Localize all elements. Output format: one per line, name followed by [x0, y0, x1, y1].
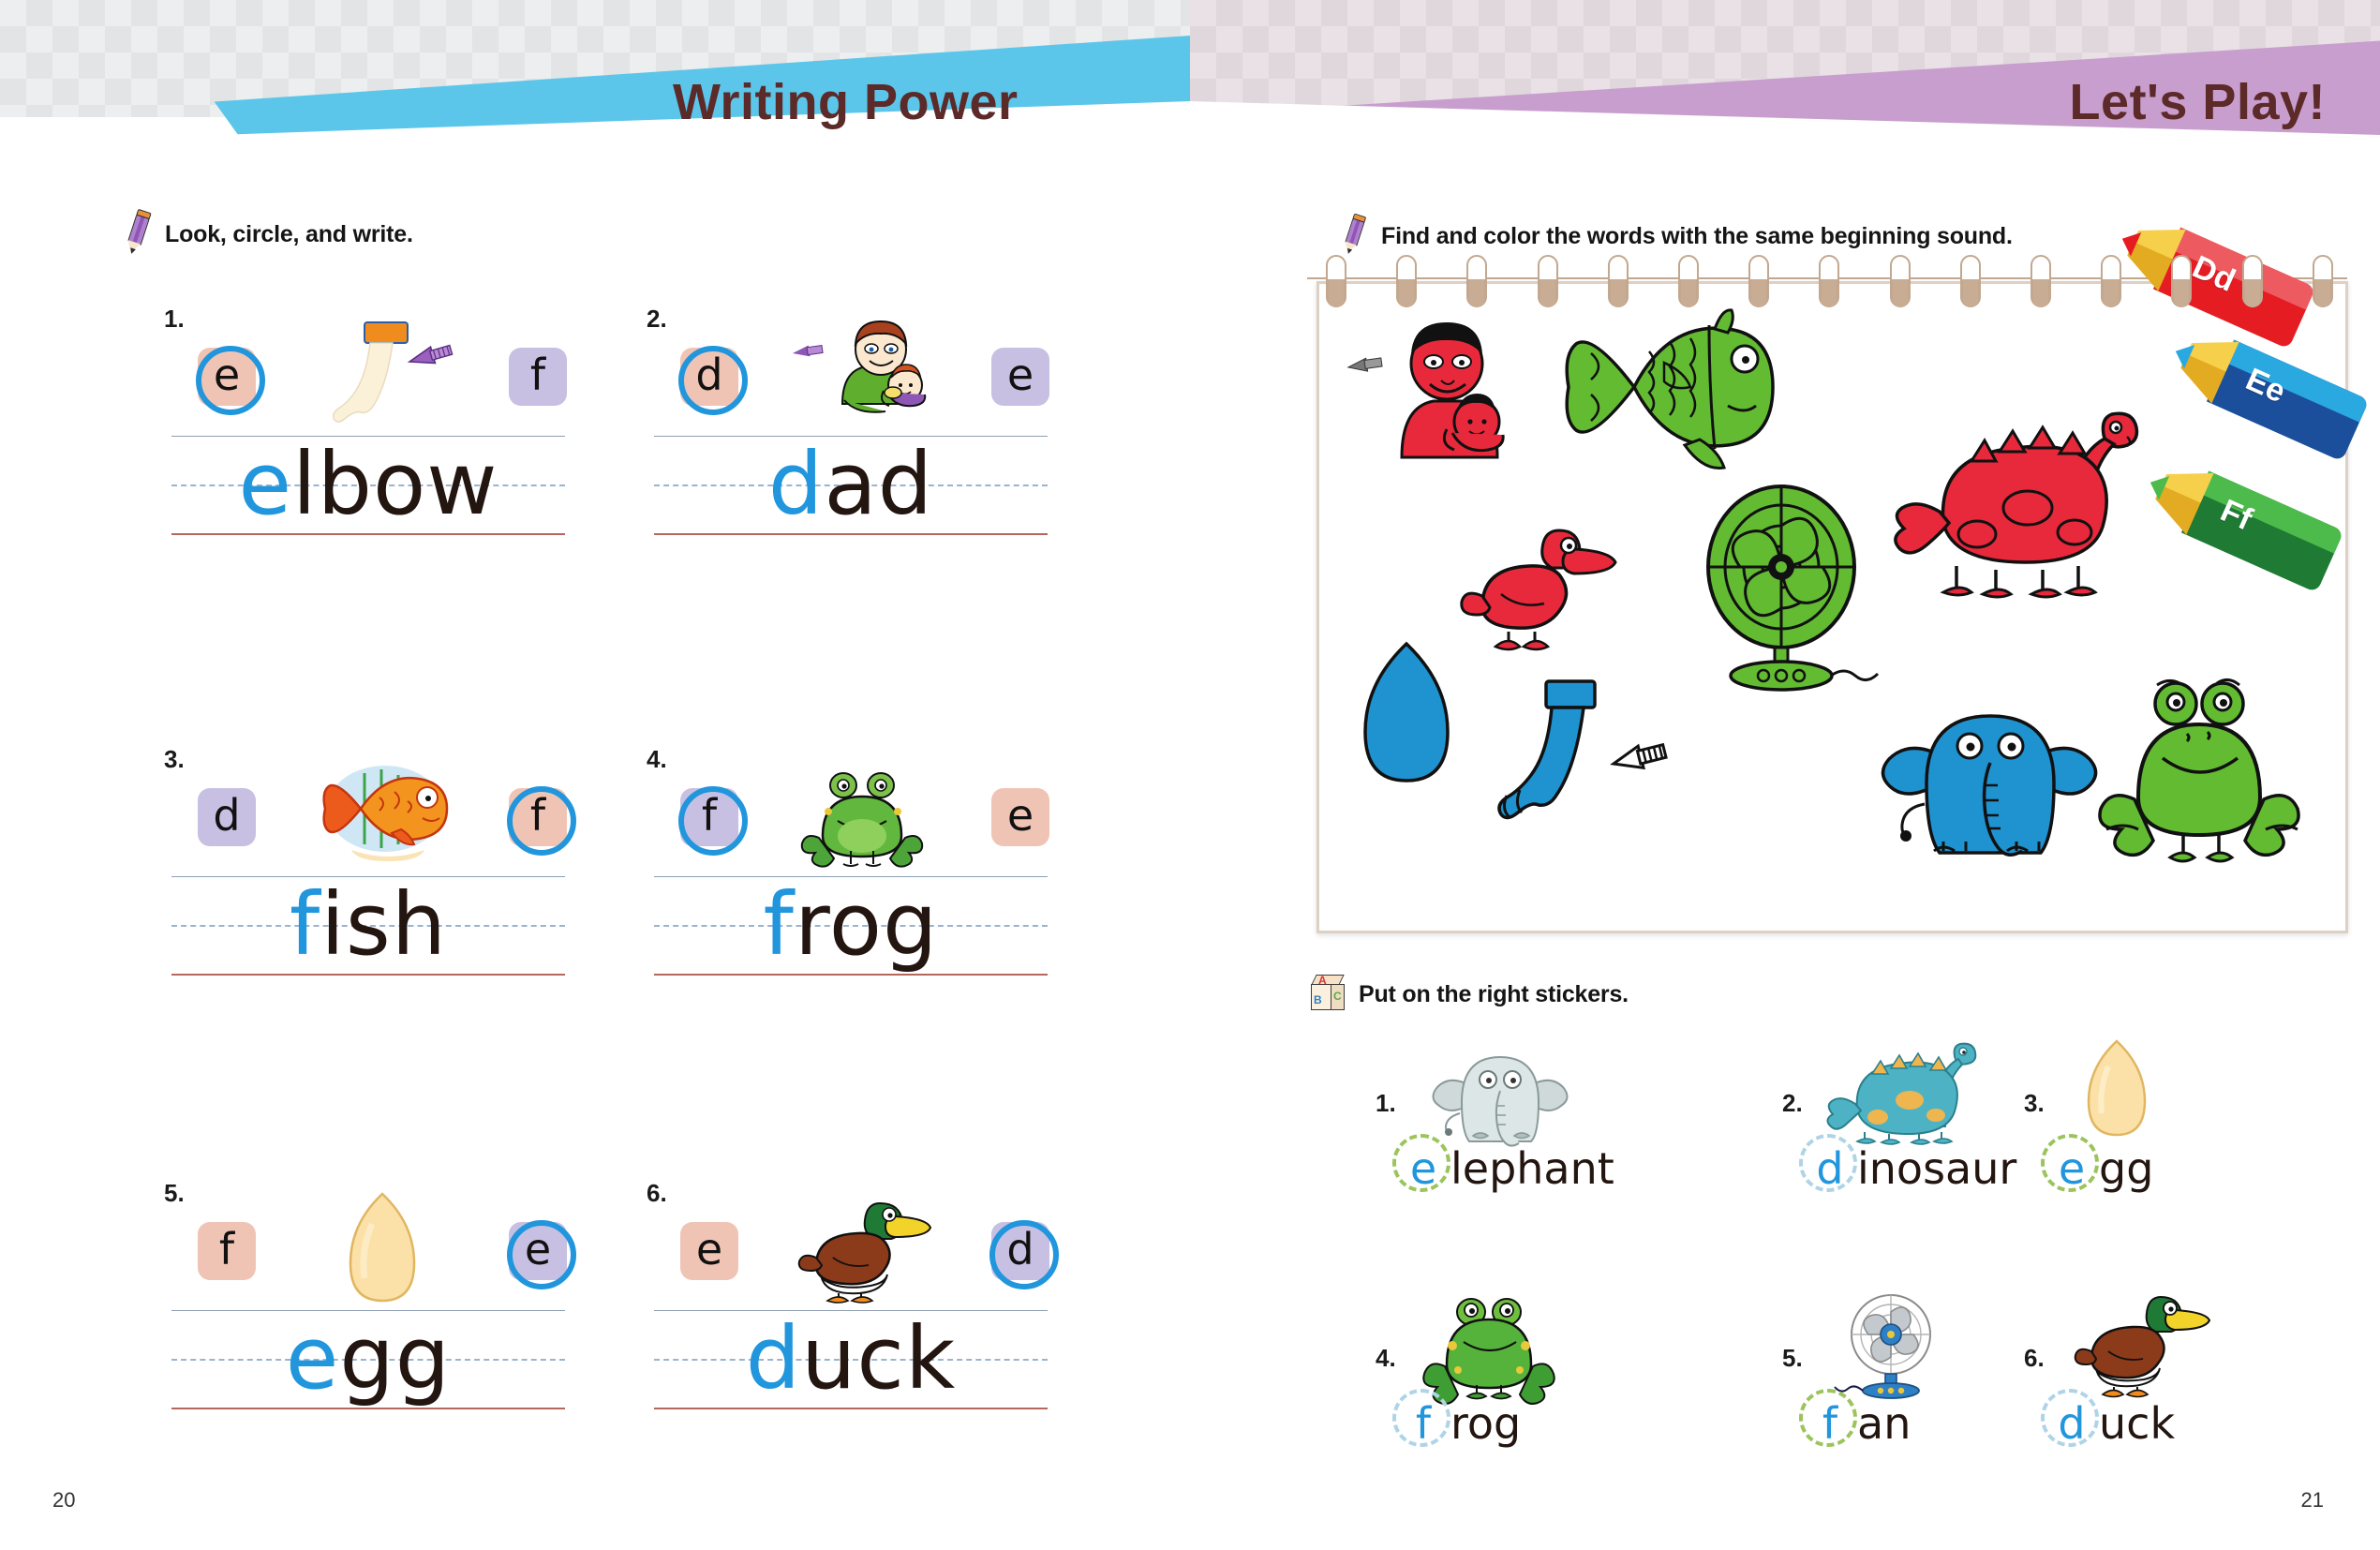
- page-number-right: 21: [2301, 1488, 2324, 1513]
- exercise-number: 3.: [164, 745, 185, 774]
- sticker-letter: d: [2058, 1398, 2085, 1449]
- sticker-number: 2.: [1782, 1089, 1803, 1118]
- sticker-number: 3.: [2024, 1089, 2045, 1118]
- notepad-picture-duck[interactable]: [1460, 514, 1638, 663]
- stickers-instruction-text: Put on the right stickers.: [1359, 981, 1629, 1008]
- writing-lines: egg: [171, 1310, 565, 1413]
- notepad-picture-elephant[interactable]: [1872, 673, 2106, 860]
- writing-lines: dad: [654, 436, 1048, 539]
- notepad-picture-egg[interactable]: [1346, 638, 1467, 788]
- sticker-letter: e: [1410, 1143, 1436, 1194]
- spiral-ring: [1466, 255, 1487, 307]
- sticker-word-rest: gg: [2099, 1143, 2153, 1194]
- sticker-letter-bubble[interactable]: f: [1396, 1398, 1450, 1449]
- word-rest: ish: [320, 874, 447, 975]
- exercise-number: 6.: [647, 1179, 667, 1208]
- sticker-word-rest: rog: [1450, 1398, 1521, 1449]
- word-rest: lbow: [292, 434, 498, 534]
- letter-option-right[interactable]: e: [509, 1222, 567, 1280]
- word-rest: ad: [824, 434, 933, 534]
- sticker-word-rest: uck: [2099, 1398, 2175, 1449]
- sticker-picture-frog: [1421, 1293, 1599, 1396]
- sticker-letter-bubble[interactable]: e: [2045, 1143, 2099, 1194]
- letter-option-left[interactable]: d: [680, 348, 738, 406]
- writing-lines: frog: [654, 876, 1048, 979]
- notepad-picture-fish[interactable]: [1544, 301, 1778, 479]
- sticker-letter-bubble[interactable]: d: [1803, 1143, 1857, 1194]
- spiral-ring: [1678, 255, 1699, 307]
- sticker-letter: f: [1416, 1398, 1431, 1449]
- sticker-number: 1.: [1376, 1089, 1396, 1118]
- letter-option-left[interactable]: f: [198, 1222, 256, 1280]
- spiral-ring: [1538, 255, 1558, 307]
- sticker-number: 4.: [1376, 1344, 1396, 1373]
- letter-option-right[interactable]: f: [509, 788, 567, 846]
- letter-option-left[interactable]: f: [680, 788, 738, 846]
- crayon-icon: [1334, 214, 1373, 258]
- word-answer: frog: [654, 871, 1048, 979]
- notepad-panel: Dd Ee Ff: [1316, 281, 2348, 933]
- letter-option-left-text: e: [696, 1228, 722, 1274]
- writing-lines: duck: [654, 1310, 1048, 1413]
- letter-option-right-text: f: [530, 794, 545, 841]
- sticker-word-5: fan: [1803, 1398, 1911, 1449]
- page-number-left: 20: [52, 1488, 75, 1513]
- letter-option-left[interactable]: d: [198, 788, 256, 846]
- picture-egg: [331, 1190, 434, 1312]
- word-first-letter: e: [238, 434, 292, 534]
- word-answer: egg: [171, 1304, 565, 1413]
- letter-option-right[interactable]: e: [991, 788, 1049, 846]
- notepad-picture-dinosaur[interactable]: [1891, 382, 2172, 598]
- writing-lines: fish: [171, 876, 565, 979]
- picture-dad: [790, 320, 940, 434]
- spiral-ring: [1748, 255, 1769, 307]
- word-rest: gg: [339, 1308, 451, 1408]
- sticker-letter: f: [1822, 1398, 1837, 1449]
- letter-option-right[interactable]: d: [991, 1222, 1049, 1280]
- exercise-number: 4.: [647, 745, 667, 774]
- sticker-word-rest: inosaur: [1857, 1143, 2016, 1194]
- word-first-letter: f: [290, 874, 320, 975]
- letter-option-right[interactable]: e: [991, 348, 1049, 406]
- letter-option-left-text: f: [702, 794, 717, 841]
- word-first-letter: d: [746, 1308, 801, 1408]
- left-page-header: Writing Power: [0, 0, 1190, 173]
- word-answer: dad: [654, 430, 1048, 539]
- sticker-word-rest: an: [1857, 1398, 1911, 1449]
- notepad-picture-frog[interactable]: [2097, 678, 2308, 865]
- letter-option-right-text: e: [1007, 353, 1034, 400]
- sticker-letter: d: [1816, 1143, 1843, 1194]
- sticker-letter-bubble[interactable]: e: [1396, 1143, 1450, 1194]
- sticker-picture-dinosaur: [1827, 1038, 2005, 1141]
- left-instruction-text: Look, circle, and write.: [165, 221, 413, 248]
- writing-lines: elbow: [171, 436, 565, 539]
- sticker-letter-bubble[interactable]: d: [2045, 1398, 2099, 1449]
- spiral-ring: [2101, 255, 2121, 307]
- letter-option-left[interactable]: e: [198, 348, 256, 406]
- letter-option-right-text: e: [525, 1228, 551, 1274]
- word-first-letter: f: [764, 874, 795, 975]
- spiral-ring: [1396, 255, 1417, 307]
- spiral-ring: [2171, 255, 2192, 307]
- spiral-ring: [1890, 255, 1911, 307]
- find-color-instruction-text: Find and color the words with the same b…: [1381, 223, 2013, 250]
- sticker-word-2: dinosaur: [1803, 1143, 2016, 1194]
- page-title-lets-play: Let's Play!: [2070, 73, 2326, 131]
- word-answer: elbow: [171, 430, 565, 539]
- spiral-ring: [2030, 255, 2051, 307]
- pencil-ee[interactable]: Ee: [2162, 320, 2369, 461]
- notepad-picture-elbow[interactable]: [1497, 678, 1713, 856]
- sticker-word-1: elephant: [1396, 1143, 1614, 1194]
- picture-duck: [790, 1196, 940, 1306]
- sticker-word-4: frog: [1396, 1398, 1521, 1449]
- letter-option-right-text: f: [530, 353, 545, 400]
- sticker-picture-elephant: [1421, 1038, 1599, 1141]
- sticker-word-3: egg: [2045, 1143, 2153, 1194]
- abc-block-icon: ABC: [1310, 975, 1347, 1014]
- exercise-number: 2.: [647, 305, 667, 334]
- word-first-letter: e: [286, 1308, 340, 1408]
- picture-elbow: [312, 320, 453, 433]
- exercise-number: 5.: [164, 1179, 185, 1208]
- sticker-picture-fan: [1831, 1293, 2009, 1396]
- letter-option-left[interactable]: e: [680, 1222, 738, 1280]
- word-rest: uck: [801, 1308, 956, 1408]
- stickers-instruction-row: ABC Put on the right stickers.: [1310, 975, 1629, 1014]
- spiral-ring: [2313, 255, 2333, 307]
- letter-option-right[interactable]: f: [509, 348, 567, 406]
- sticker-letter: e: [2059, 1143, 2085, 1194]
- notepad-picture-dad[interactable]: [1347, 317, 1521, 467]
- word-first-letter: d: [768, 434, 824, 534]
- spiral-ring: [2242, 255, 2263, 307]
- left-instruction-row: Look, circle, and write.: [122, 214, 413, 255]
- right-page-header: Let's Play!: [1190, 0, 2380, 173]
- sticker-letter-bubble[interactable]: f: [1803, 1398, 1857, 1449]
- letter-option-right-text: e: [1007, 794, 1034, 841]
- exercise-number: 1.: [164, 305, 185, 334]
- spiral-ring: [1326, 255, 1346, 307]
- letter-option-left-text: d: [695, 353, 722, 400]
- notepad-spiral-rings: [1326, 255, 2333, 311]
- spiral-ring: [1819, 255, 1839, 307]
- word-answer: fish: [171, 871, 565, 979]
- spiral-ring: [1960, 255, 1981, 307]
- sticker-number: 5.: [1782, 1344, 1803, 1373]
- notepad-picture-fan[interactable]: [1692, 481, 1894, 696]
- spiral-ring: [1608, 255, 1629, 307]
- letter-option-left-text: e: [214, 353, 240, 400]
- workbook-spread: Writing Power Let's Play! Look, circle, …: [0, 0, 2380, 1550]
- find-color-instruction-row: Find and color the words with the same b…: [1338, 216, 2013, 257]
- picture-fish: [303, 760, 462, 874]
- word-rest: rog: [795, 874, 939, 975]
- sticker-picture-duck: [2069, 1293, 2247, 1396]
- sticker-word-rest: lephant: [1450, 1143, 1614, 1194]
- pencil-icon: [116, 210, 159, 259]
- sticker-word-6: duck: [2045, 1398, 2175, 1449]
- letter-option-right-text: d: [1006, 1228, 1034, 1274]
- word-answer: duck: [654, 1304, 1048, 1413]
- sticker-number: 6.: [2024, 1344, 2045, 1373]
- sticker-picture-egg: [2075, 1038, 2253, 1141]
- letter-option-left-text: f: [219, 1228, 234, 1274]
- picture-frog: [795, 765, 935, 870]
- letter-option-left-text: d: [213, 794, 240, 841]
- page-title-writing-power: Writing Power: [673, 73, 1019, 131]
